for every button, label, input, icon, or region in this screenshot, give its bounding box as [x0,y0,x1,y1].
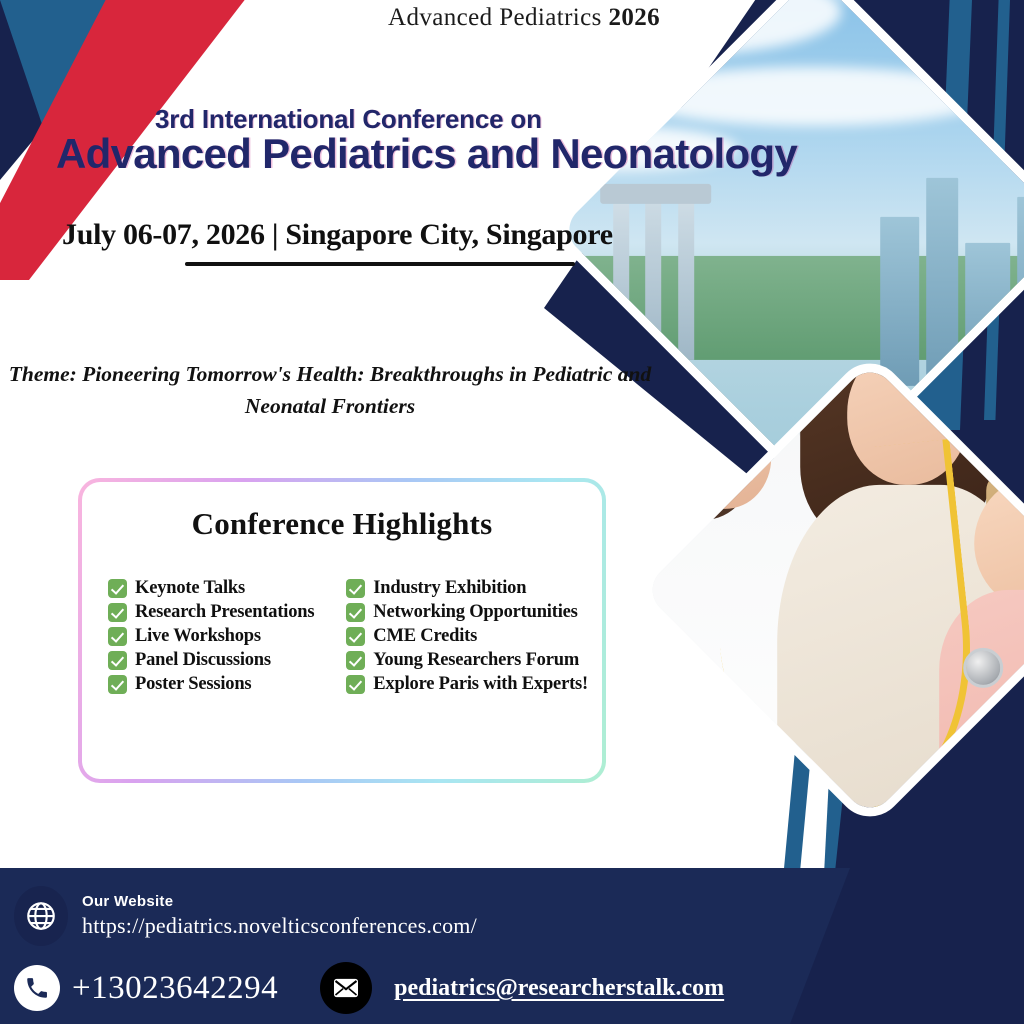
email-address[interactable]: pediatrics@researcherstalk.com [394,975,724,1002]
conference-theme: Theme: Pioneering Tomorrow's Health: Bre… [0,358,660,423]
list-item: Industry Exhibition [346,578,588,599]
highlight-label: Young Researchers Forum [373,650,579,671]
highlights-title: Conference Highlights [82,506,602,542]
check-icon [108,627,127,646]
brand-year: 2026 [608,4,660,31]
contact-row: +13023642294 pediatrics@researcherstalk.… [14,962,724,1014]
list-item: Networking Opportunities [346,602,588,623]
check-icon [346,651,365,670]
highlight-label: Networking Opportunities [373,602,577,623]
list-item: Panel Discussions [108,650,322,671]
check-icon [108,651,127,670]
conference-highlights-card: Conference Highlights Keynote Talks Rese… [78,478,606,783]
list-item: Poster Sessions [108,674,322,695]
check-icon [346,627,365,646]
list-item: Keynote Talks [108,578,322,599]
footer-navy-accent [724,868,1024,1024]
highlight-label: CME Credits [373,626,477,647]
check-icon [346,603,365,622]
website-label: Our Website [82,893,477,910]
highlight-label: Keynote Talks [135,578,245,599]
website-row[interactable]: Our Website https://pediatrics.noveltics… [14,886,477,946]
list-item: Research Presentations [108,602,322,623]
list-item: Explore Paris with Experts! [346,674,588,695]
brand-name: Advanced Pediatrics [388,4,602,31]
phone-icon [14,965,60,1011]
highlights-column-right: Industry Exhibition Networking Opportuni… [346,578,588,695]
date-location: July 06-07, 2026 | Singapore City, Singa… [62,218,613,252]
check-icon [346,675,365,694]
list-item: Live Workshops [108,626,322,647]
check-icon [108,603,127,622]
highlight-label: Industry Exhibition [373,578,526,599]
check-icon [346,579,365,598]
brand-title: Advanced Pediatrics 2026 [388,4,728,32]
conference-poster: Advanced Pediatrics 2026 3rd Internation… [0,0,1024,1024]
page-title: Advanced Pediatrics and Neonatology [56,130,797,178]
check-icon [108,675,127,694]
list-item: Young Researchers Forum [346,650,588,671]
highlight-label: Poster Sessions [135,674,251,695]
email-icon [320,962,372,1014]
date-underline [185,262,575,266]
phone-number[interactable]: +13023642294 [72,970,278,1007]
check-icon [108,579,127,598]
contact-footer: Our Website https://pediatrics.noveltics… [0,868,1024,1024]
globe-icon [14,886,68,946]
highlight-label: Live Workshops [135,626,261,647]
highlight-label: Research Presentations [135,602,314,623]
highlight-label: Panel Discussions [135,650,271,671]
highlights-column-left: Keynote Talks Research Presentations Liv… [108,578,322,695]
highlights-columns: Keynote Talks Research Presentations Liv… [108,578,588,695]
highlight-label: Explore Paris with Experts! [373,674,588,695]
website-url[interactable]: https://pediatrics.novelticsconferences.… [82,913,477,939]
list-item: CME Credits [346,626,588,647]
